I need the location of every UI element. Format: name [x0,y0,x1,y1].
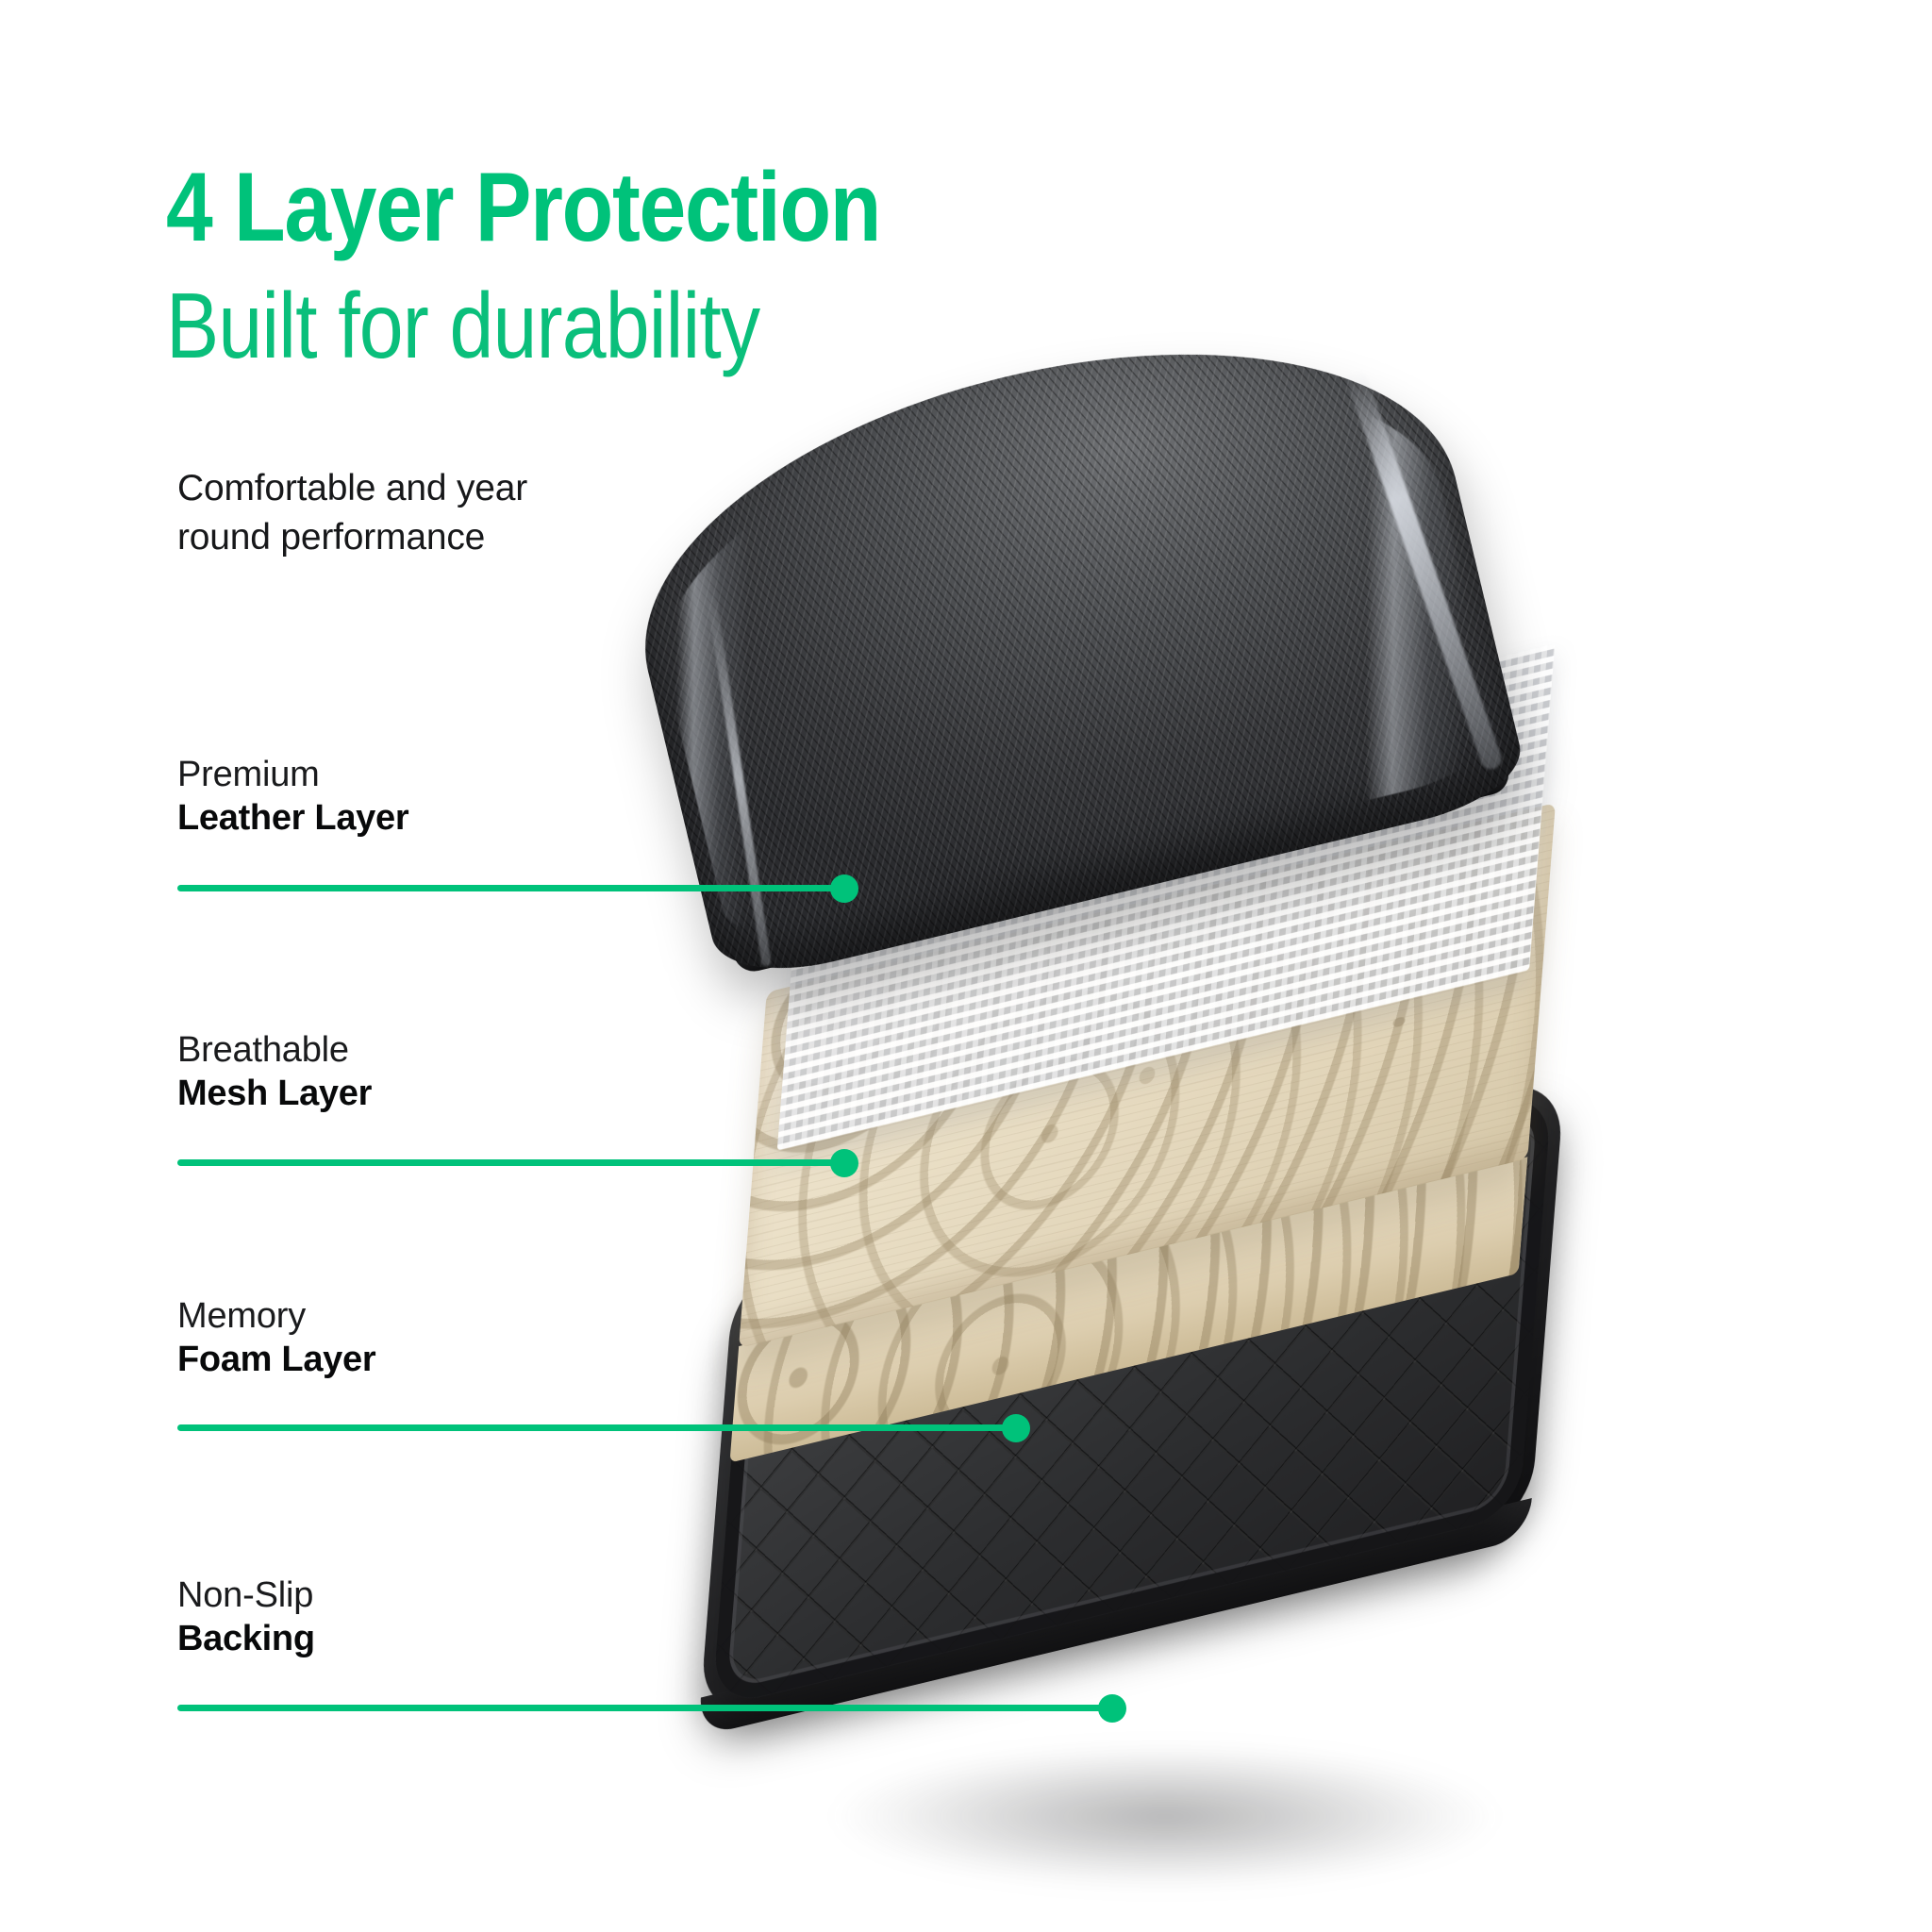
layer-qualifier-mesh: Breathable [177,1028,706,1072]
layer-name-leather: Leather Layer [177,796,706,840]
leader-line-foam [177,1424,1017,1431]
layer-label-backing: Non-Slip Backing [177,1574,706,1661]
intro-line-2: round performance [177,513,706,562]
foam-side-face [729,1157,1527,1462]
product-layer-memory-foam [739,803,1556,1348]
layer-label-leather: Premium Leather Layer [177,753,706,841]
page-subtitle: Built for durability [166,279,759,372]
leather-seam-right [1343,367,1504,773]
leader-line-leather [177,885,845,891]
mesh-weave-surface [777,643,1556,1150]
leader-line-mesh [177,1159,845,1166]
backing-rim [699,1074,1566,1724]
layer-label-mesh: Breathable Mesh Layer [177,1028,706,1116]
backing-quilted-surface [711,1090,1552,1708]
leather-textured-shell [601,280,1531,988]
intro-paragraph: Comfortable and year round performance [177,464,706,562]
foam-top-surface [739,803,1556,1348]
leather-gloss-highlight [625,315,1507,953]
layer-qualifier-leather: Premium [177,753,706,796]
product-layer-leather [601,280,1531,988]
layer-qualifier-foam: Memory [177,1294,706,1338]
layer-name-backing: Backing [177,1617,706,1660]
product-layer-mesh [777,643,1556,1150]
leader-dot-foam [1002,1414,1030,1442]
leader-line-backing [177,1705,1113,1711]
ground-shadow [698,1736,1547,1915]
layer-name-mesh: Mesh Layer [177,1072,706,1115]
intro-line-1: Comfortable and year [177,464,706,513]
infographic-canvas: 4 Layer Protection Built for durability … [0,0,1932,1932]
leather-underside [697,652,1522,979]
layer-name-foam: Foam Layer [177,1338,706,1381]
product-layer-non-slip-backing [711,1090,1552,1708]
leader-dot-leather [830,874,858,903]
page-title: 4 Layer Protection [166,158,880,257]
layer-label-foam: Memory Foam Layer [177,1294,706,1382]
leader-dot-mesh [830,1149,858,1177]
layer-qualifier-backing: Non-Slip [177,1574,706,1617]
leader-dot-backing [1098,1694,1126,1723]
leather-seam-left [706,589,771,966]
leather-bottom-lip [733,770,1513,976]
